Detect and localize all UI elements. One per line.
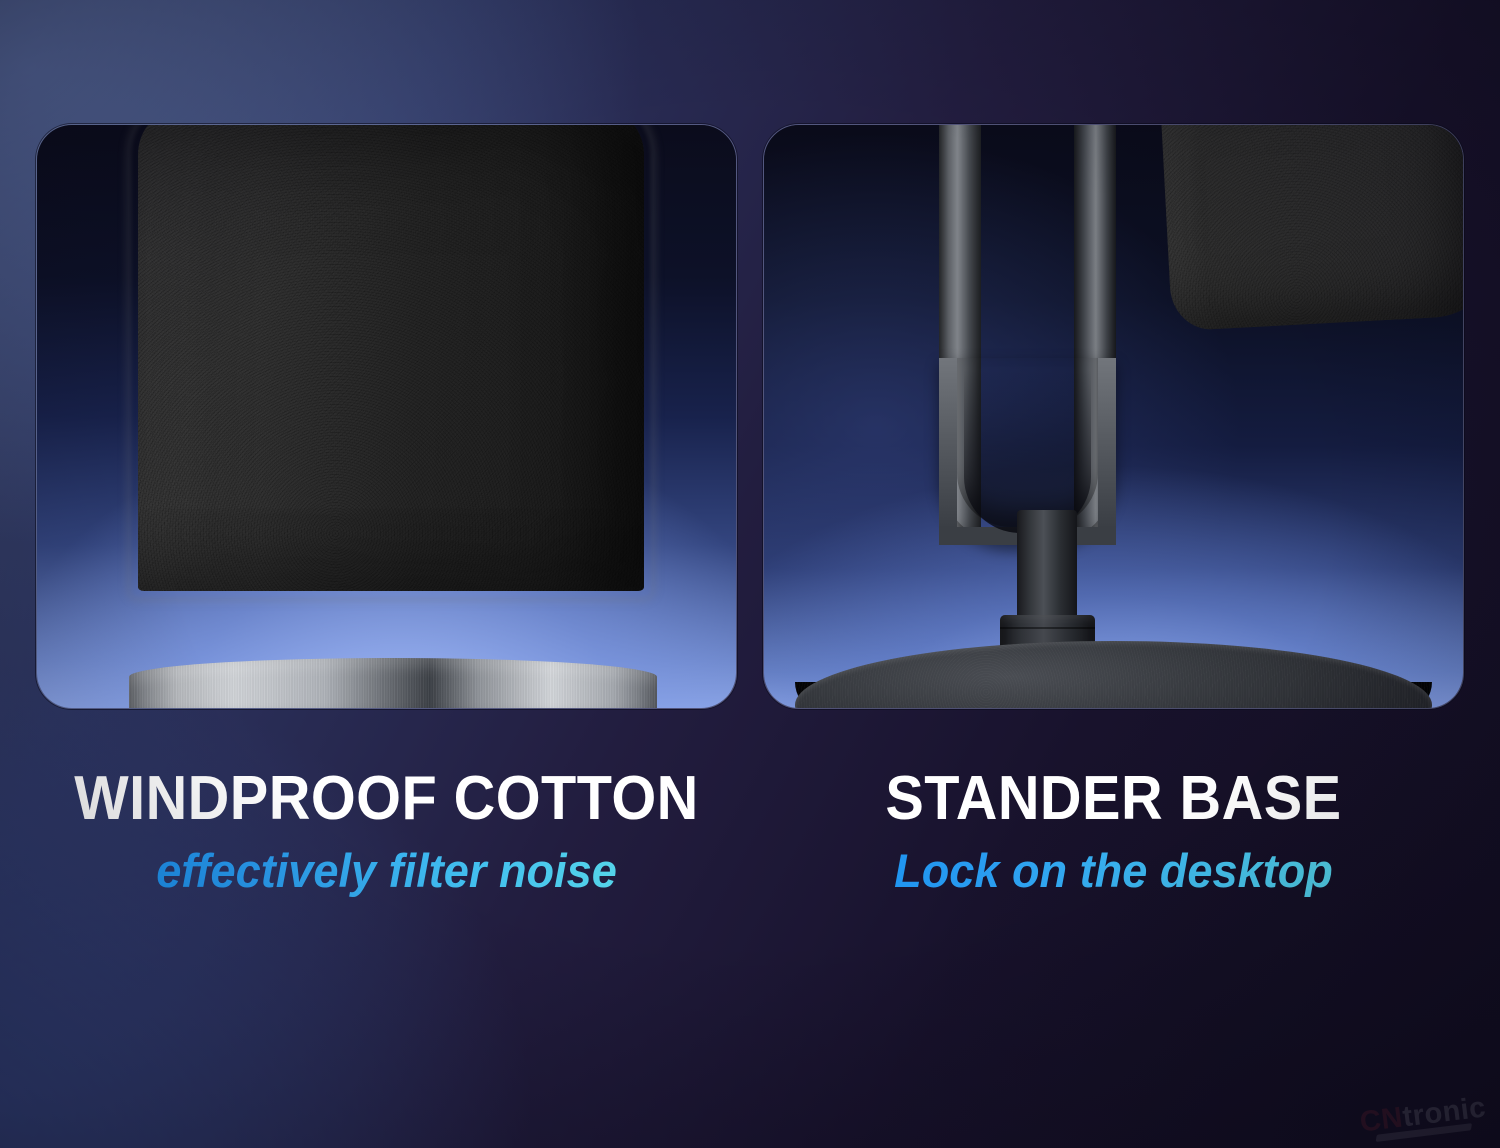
watermark-cntronic: CNtronic [1358,1091,1488,1143]
caption-windproof-cotton: WINDPROOF COTTON effectively filter nois… [36,768,737,897]
collar-seam [1000,627,1095,629]
feature-card-stander-base[interactable] [763,124,1464,709]
feature-card-row [36,124,1464,709]
yoke-inner-shadow [964,370,1091,533]
foam-windscreen [138,124,645,591]
caption-stander-base: STANDER BASE Lock on the desktop [763,768,1464,897]
feature-subtitle-windproof-cotton: effectively filter noise [50,846,723,897]
foam-pad-texture [1160,124,1464,331]
feature-card-windproof-cotton[interactable] [36,124,737,709]
foam-texture [138,124,645,591]
metal-band-grain [129,658,657,709]
caption-row: WINDPROOF COTTON effectively filter nois… [36,768,1464,897]
feature-title-stander-base: STANDER BASE [788,768,1440,830]
microphone-metal-band [129,658,657,709]
feature-title-windproof-cotton: WINDPROOF COTTON [61,768,713,830]
banner-canvas: WINDPROOF COTTON effectively filter nois… [0,0,1500,1148]
foam-pad [1160,124,1464,331]
feature-subtitle-stander-base: Lock on the desktop [777,846,1450,897]
